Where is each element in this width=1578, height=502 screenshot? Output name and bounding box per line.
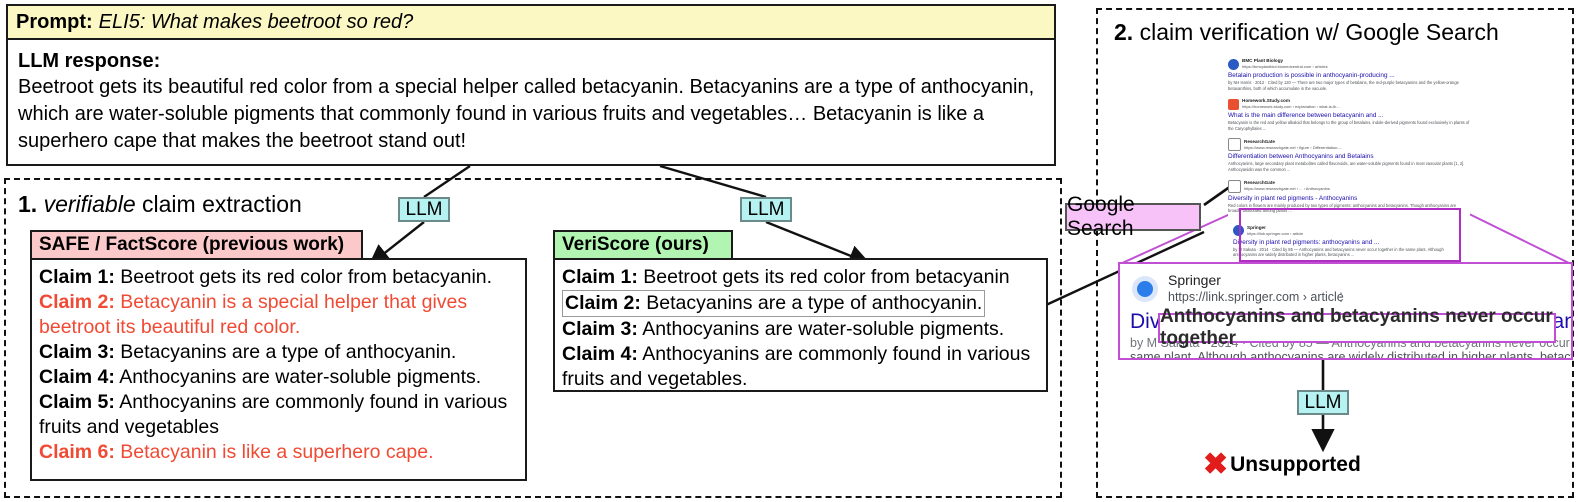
- verdict-row: ✖ Unsupported: [1203, 450, 1361, 480]
- serp-title[interactable]: Differentiation between Anthocyanins and…: [1228, 152, 1470, 161]
- serp-snippet: by NH Harris · 2012 · Cited by 120 — The…: [1228, 80, 1470, 91]
- step1-title-italic: verifiable: [44, 191, 136, 217]
- safe-claims-box: Claim 1: Beetroot gets its red color fro…: [30, 258, 527, 481]
- veriscore-claims-box: Claim 1: Beetroot gets its red color fro…: [553, 258, 1048, 392]
- safe-factscore-header: SAFE / FactScore (previous work): [30, 230, 363, 258]
- serp-snippet: Anthocyanins, large secondary plant meta…: [1228, 161, 1470, 172]
- serp-source-row: Homework.Study.com https://homework.stud…: [1228, 98, 1470, 110]
- favicon-icon: [1228, 180, 1241, 193]
- step2-title: 2. claim verification w/ Google Search: [1114, 18, 1499, 46]
- claim-item: Claim 3: Anthocyanins are water-soluble …: [562, 317, 1039, 342]
- evidence-snippet-line2: same plant. Although anthocyanins are wi…: [1130, 350, 1573, 360]
- claim-item: Claim 6: Betacyanin is like a superhero …: [39, 440, 518, 465]
- claim-label: Claim 1:: [39, 266, 115, 288]
- selected-claim[interactable]: Claim 2: Betacyanins are a type of antho…: [562, 290, 985, 317]
- serp-result[interactable]: ResearchGate https://www.researchgate.ne…: [1228, 138, 1470, 172]
- claim-item: Claim 5: Anthocyanins are commonly found…: [39, 390, 518, 440]
- serp-title[interactable]: Diversity in plant red pigments: anthocy…: [1233, 238, 1465, 247]
- serp-url: https://bmcplantbiol.biomedcentral.com ›…: [1242, 64, 1328, 70]
- prompt-label: Prompt:: [16, 11, 93, 34]
- serp-result[interactable]: BMC Plant Biology https://bmcplantbiol.b…: [1228, 58, 1470, 91]
- claim-label: Claim 3:: [562, 318, 638, 340]
- evidence-highlight-box: Anthocyanins and betacyanins never occur…: [1158, 313, 1556, 343]
- claim-text: Beetroot gets its red color from betacya…: [638, 266, 1010, 288]
- llm-response-text: Beetroot gets its beautiful red color fr…: [18, 74, 1044, 155]
- selected-claim-row: Claim 2: Betacyanins are a type of antho…: [562, 290, 1039, 317]
- serp-source-row: ResearchGate https://www.researchgate.ne…: [1228, 138, 1470, 151]
- llm-chip-label: LLM: [406, 199, 443, 221]
- claim-text: Betacyanins are a type of anthocyanin.: [641, 292, 982, 314]
- claim-label: Claim 6:: [39, 441, 115, 463]
- favicon-icon: [1233, 225, 1244, 236]
- serp-url: https://link.springer.com › article: [1247, 231, 1303, 237]
- claim-text: Anthocyanins are water-soluble pigments.: [115, 366, 481, 388]
- serp-source-row: BMC Plant Biology https://bmcplantbiol.b…: [1228, 58, 1470, 70]
- claim-text: Beetroot gets its red color from betacya…: [115, 266, 492, 288]
- serp-title[interactable]: Diversity in plant red pigments - Anthoc…: [1228, 194, 1470, 203]
- serp-snippet: Red colors in flowers are mainly produce…: [1228, 203, 1470, 214]
- claim-label: Claim 1:: [562, 266, 638, 288]
- google-serp-screenshot: BMC Plant Biology https://bmcplantbiol.b…: [1228, 58, 1470, 288]
- kebab-menu-icon[interactable]: ⋮: [1335, 290, 1347, 304]
- serp-source-row: ResearchGate https://www.researchgate.ne…: [1228, 180, 1470, 193]
- verdict-label: Unsupported: [1230, 453, 1361, 477]
- serp-url: https://www.researchgate.net › figure › …: [1244, 145, 1342, 151]
- evidence-source-name: Springer: [1168, 272, 1221, 288]
- claim-label: Claim 4:: [39, 366, 115, 388]
- cross-icon: ✖: [1203, 450, 1228, 480]
- favicon-icon: [1228, 138, 1241, 151]
- serp-url: https://www.researchgate.net › ... › Ant…: [1244, 186, 1330, 192]
- serp-result[interactable]: Homework.Study.com https://homework.stud…: [1228, 98, 1470, 131]
- serp-snippet: Betacyanin is the red and yellow alkaloi…: [1228, 120, 1470, 131]
- springer-favicon-icon: [1132, 276, 1158, 302]
- favicon-icon: [1228, 59, 1239, 70]
- serp-url: https://homework.study.com › explanation…: [1242, 104, 1340, 110]
- prompt-header: Prompt: ELI5: What makes beetroot so red…: [8, 6, 1054, 40]
- step1-title: 1. verifiable claim extraction: [18, 190, 302, 218]
- claim-label: Claim 4:: [562, 343, 638, 365]
- evidence-source-url: https://link.springer.com › article: [1168, 290, 1344, 304]
- llm-response-area: LLM response: Beetroot gets its beautifu…: [8, 40, 1054, 164]
- step2-title-text: claim verification w/ Google Search: [1133, 19, 1499, 45]
- veriscore-header: VeriScore (ours): [553, 230, 733, 258]
- claim-label: Claim 5:: [39, 391, 115, 413]
- google-search-label: Google Search: [1067, 193, 1199, 241]
- veriscore-label: VeriScore (ours): [562, 234, 709, 256]
- favicon-icon: [1228, 99, 1239, 110]
- google-search-chip[interactable]: Google Search: [1065, 203, 1201, 231]
- step1-number: 1.: [18, 191, 37, 217]
- serp-source-row: Springer https://link.springer.com › art…: [1233, 225, 1465, 237]
- claim-item: Claim 1: Beetroot gets its red color fro…: [39, 265, 518, 290]
- safe-factscore-label: SAFE / FactScore (previous work): [39, 234, 344, 256]
- llm-chip-label: LLM: [748, 199, 785, 221]
- llm-chip-extraction-veriscore: LLM: [740, 197, 792, 222]
- serp-result-highlighted[interactable]: Springer https://link.springer.com › art…: [1228, 221, 1470, 262]
- claim-text: Anthocyanins are water-soluble pigments.: [638, 318, 1004, 340]
- claim-text: Betacyanin is like a superhero cape.: [115, 441, 434, 463]
- claim-item: Claim 1: Beetroot gets its red color fro…: [562, 265, 1039, 290]
- claim-label: Claim 2:: [39, 291, 115, 313]
- claim-item: Claim 3: Betacyanins are a type of antho…: [39, 340, 518, 365]
- prompt-question: ELI5: What makes beetroot so red?: [99, 11, 414, 34]
- serp-title[interactable]: Betalain production is possible in antho…: [1228, 71, 1470, 80]
- step1-title-rest: claim extraction: [136, 191, 302, 217]
- serp-snippet: by M Sakuta · 2014 · Cited by 85 — Antho…: [1233, 247, 1465, 258]
- step2-number: 2.: [1114, 19, 1133, 45]
- evidence-text: Anthocyanins and betacyanins never occur…: [1160, 306, 1554, 350]
- claim-item: Claim 4: Anthocyanins are water-soluble …: [39, 365, 518, 390]
- claim-text: Betacyanins are a type of anthocyanin.: [115, 341, 456, 363]
- llm-chip-extraction-safe: LLM: [398, 197, 450, 222]
- serp-title[interactable]: What is the main difference between beta…: [1228, 111, 1470, 120]
- claim-label: Claim 3:: [39, 341, 115, 363]
- claim-label: Claim 2:: [565, 292, 641, 314]
- claim-item: Claim 2: Betacyanin is a special helper …: [39, 290, 518, 340]
- claim-item: Claim 4: Anthocyanins are commonly found…: [562, 342, 1039, 392]
- prompt-response-box: Prompt: ELI5: What makes beetroot so red…: [6, 4, 1056, 166]
- llm-response-title: LLM response:: [18, 48, 1044, 74]
- serp-result[interactable]: ResearchGate https://www.researchgate.ne…: [1228, 180, 1470, 214]
